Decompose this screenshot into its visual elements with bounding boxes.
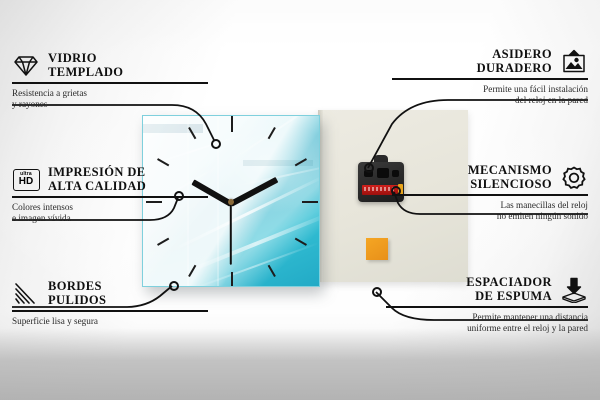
press-down-pad-icon	[560, 277, 588, 303]
diamond-icon	[12, 53, 40, 79]
feature-sub-line2: del reloj en la pared	[515, 95, 588, 105]
feature-sub-line2: y rayones	[12, 99, 47, 109]
connector-dot-asidero	[364, 163, 374, 173]
feature-title: ESPACIADOR DE ESPUMA	[466, 276, 552, 303]
feature-sub-line2: uniforme entre el reloj y la pared	[467, 323, 588, 333]
polished-edge-icon	[12, 281, 40, 307]
feature-header: ASIDERO DURADERO	[392, 48, 588, 75]
feature-title-line1: VIDRIO	[48, 51, 97, 65]
feature-header: VIDRIO TEMPLADO	[12, 52, 208, 79]
feature-subtitle: Permite mantener una distancia uniforme …	[386, 312, 588, 335]
feature-espaciador-de-espuma[interactable]: ESPACIADOR DE ESPUMA Permite mantener un…	[386, 276, 588, 335]
feature-title-line2: TEMPLADO	[48, 65, 123, 79]
feature-title-line2: SILENCIOSO	[470, 177, 552, 191]
feature-title-line2: ALTA CALIDAD	[48, 179, 146, 193]
feature-header: MECANISMO SILENCIOSO	[392, 164, 588, 191]
feature-title-line1: ASIDERO	[492, 47, 552, 61]
feature-rule	[392, 78, 588, 80]
feature-title: MECANISMO SILENCIOSO	[468, 164, 552, 191]
feature-title-line1: MECANISMO	[468, 163, 552, 177]
feature-impresion-alta-calidad[interactable]: ultra HD IMPRESIÓN DE ALTA CALIDAD Color…	[12, 166, 208, 225]
feature-title-line2: PULIDOS	[48, 293, 106, 307]
feature-title-line1: ESPACIADOR	[466, 275, 552, 289]
feature-sub-line1: Permite una fácil instalación	[483, 84, 588, 94]
feature-vidrio-templado[interactable]: VIDRIO TEMPLADO Resistencia a grietas y …	[12, 52, 208, 111]
feature-sub-line1: Superficie lisa y segura	[12, 316, 98, 326]
feature-subtitle: Superficie lisa y segura	[12, 316, 208, 328]
feature-bordes-pulidos[interactable]: BORDES PULIDOS Superficie lisa y segura	[12, 280, 208, 327]
feature-subtitle: Resistencia a grietas y rayones	[12, 88, 208, 111]
feature-sub-line2: e imagen vívida	[12, 213, 71, 223]
feature-title: IMPRESIÓN DE ALTA CALIDAD	[48, 166, 146, 193]
feature-title: BORDES PULIDOS	[48, 280, 106, 307]
ultra-hd-badge-main: HD	[19, 177, 33, 187]
feature-title: ASIDERO DURADERO	[477, 48, 552, 75]
feature-rule	[386, 306, 588, 308]
feature-header: ESPACIADOR DE ESPUMA	[386, 276, 588, 303]
feature-subtitle: Las manecillas del reloj no emiten ningú…	[392, 200, 588, 223]
feature-sub-line2: no emiten ningún sonido	[497, 211, 588, 221]
infographic-stage: VIDRIO TEMPLADO Resistencia a grietas y …	[0, 0, 600, 400]
feature-title-line2: DURADERO	[477, 61, 552, 75]
feature-title-line2: DE ESPUMA	[475, 289, 552, 303]
picture-hanger-icon	[560, 49, 588, 75]
feature-subtitle: Permite una fácil instalación del reloj …	[392, 84, 588, 107]
feature-mecanismo-silencioso[interactable]: MECANISMO SILENCIOSO Las manecillas del …	[392, 164, 588, 223]
connector-dot-vidrio	[211, 139, 221, 149]
ultra-hd-icon: ultra HD	[12, 167, 40, 193]
feature-asidero-duradero[interactable]: ASIDERO DURADERO Permite una fácil insta…	[392, 48, 588, 107]
feature-sub-line1: Resistencia a grietas	[12, 88, 87, 98]
ultra-hd-badge: ultra HD	[13, 169, 40, 191]
feature-rule	[12, 310, 208, 312]
feature-rule	[12, 82, 208, 84]
feature-title-line1: BORDES	[48, 279, 102, 293]
connector-asidero	[368, 100, 588, 168]
gear-icon	[560, 165, 588, 191]
feature-sub-line1: Colores intensos	[12, 202, 73, 212]
feature-title-line1: IMPRESIÓN DE	[48, 165, 146, 179]
feature-sub-line1: Las manecillas del reloj	[500, 200, 588, 210]
feature-sub-line1: Permite mantener una distancia	[472, 312, 588, 322]
feature-rule	[12, 196, 208, 198]
feature-header: ultra HD IMPRESIÓN DE ALTA CALIDAD	[12, 166, 208, 193]
feature-header: BORDES PULIDOS	[12, 280, 208, 307]
feature-rule	[392, 194, 588, 196]
feature-subtitle: Colores intensos e imagen vívida	[12, 202, 208, 225]
connector-dot-espaciador	[372, 287, 382, 297]
feature-title: VIDRIO TEMPLADO	[48, 52, 123, 79]
